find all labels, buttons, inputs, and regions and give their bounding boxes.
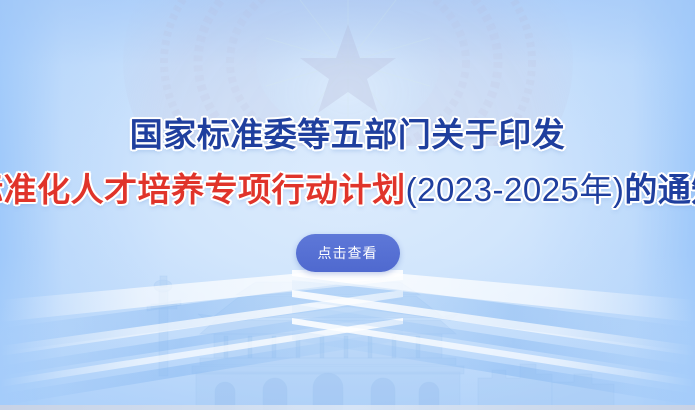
view-details-button[interactable]: 点击查看 [296, 234, 400, 272]
banner-content: 国家标准委等五部门关于印发 标准化人才培养专项行动计划(2023-2025年)的… [0, 0, 695, 410]
policy-banner: 国家标准委等五部门关于印发 标准化人才培养专项行动计划(2023-2025年)的… [0, 0, 695, 410]
bottom-divider [0, 405, 695, 410]
banner-title-suffix: 的通知 [624, 171, 695, 208]
banner-title-plan-name: 标准化人才培养专项行动计划 [0, 171, 406, 208]
banner-title-line-1: 国家标准委等五部门关于印发 [130, 118, 566, 151]
banner-title-year-range: (2023-2025年) [406, 171, 625, 208]
banner-title-line-2: 标准化人才培养专项行动计划(2023-2025年)的通知 [0, 173, 695, 206]
cta-container: 点击查看 [296, 234, 400, 272]
